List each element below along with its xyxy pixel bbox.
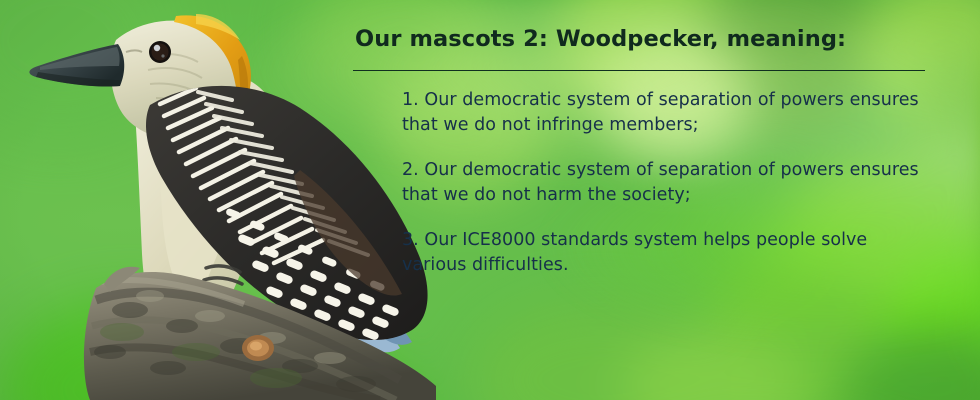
banner-text-panel: Our mascots 2: Woodpecker, meaning: 1. O… [353,0,928,400]
page-title: Our mascots 2: Woodpecker, meaning: [355,26,846,52]
list-item: 3. Our ICE8000 standards system helps pe… [402,228,926,278]
mascot-banner: Our mascots 2: Woodpecker, meaning: 1. O… [0,0,980,400]
list-item: 1. Our democratic system of separation o… [402,88,926,138]
mascot-meaning-list: 1. Our democratic system of separation o… [402,88,926,278]
list-item: 2. Our democratic system of separation o… [402,158,926,208]
title-divider [353,70,925,71]
